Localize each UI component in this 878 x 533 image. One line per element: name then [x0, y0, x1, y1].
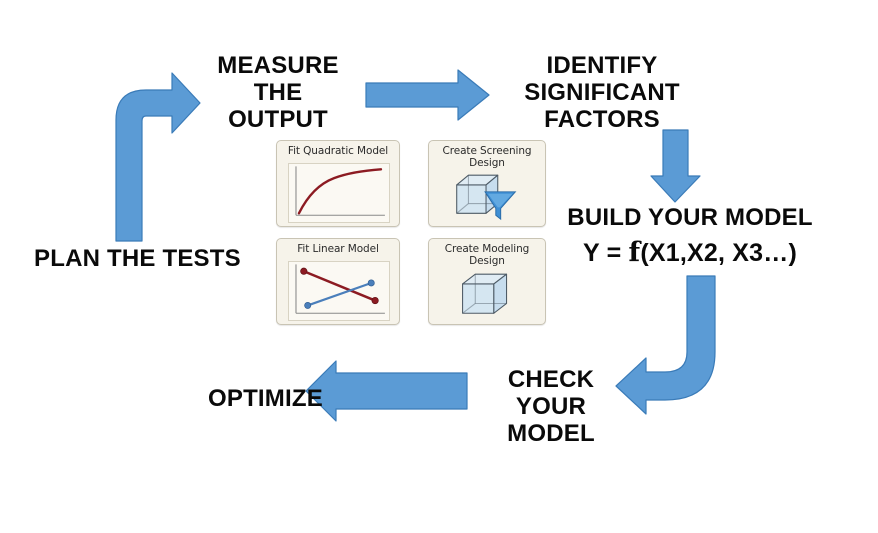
- tile-title: Fit Quadratic Model: [277, 146, 399, 158]
- tile-title: Fit Linear Model: [277, 244, 399, 256]
- step-label-optimize: OPTIMIZE: [208, 385, 323, 412]
- arrow-measure-to-identify: [366, 70, 489, 120]
- step-label-build-your-model: BUILD YOUR MODEL: [562, 204, 818, 231]
- formula-rhs: (X1,X2, X3…): [640, 239, 797, 267]
- arrow-build-to-check: [616, 276, 715, 414]
- formula-lhs: Y =: [583, 239, 629, 267]
- tool-tile-grid: Fit Quadratic Model Fit Linear Model: [272, 138, 556, 332]
- arrow-plan-to-measure: [116, 73, 200, 241]
- step-label-plan-the-tests: PLAN THE TESTS: [34, 245, 241, 272]
- tile-fit-quadratic-model[interactable]: Fit Quadratic Model: [276, 140, 400, 227]
- formula-function-symbol: f: [629, 237, 641, 268]
- arrow-check-to-optimize: [306, 361, 467, 421]
- tile-create-modeling-design[interactable]: Create Modeling Design: [428, 238, 546, 325]
- step-label-check-your-model: CHECK YOUR MODEL: [486, 366, 616, 447]
- doe-cycle-diagram: PLAN THE TESTS MEASURE THE OUTPUT IDENTI…: [0, 0, 878, 533]
- tile-create-screening-design[interactable]: Create Screening Design: [428, 140, 546, 227]
- tile-fit-linear-model[interactable]: Fit Linear Model: [276, 238, 400, 325]
- step-label-measure-the-output: MEASURE THE OUTPUT: [208, 52, 348, 133]
- tile-title: Create Screening Design: [429, 146, 545, 170]
- tile-title: Create Modeling Design: [429, 244, 545, 268]
- arrow-identify-to-build: [651, 130, 700, 202]
- model-formula: Y = f(X1,X2, X3…): [562, 238, 818, 269]
- step-label-identify-significant-factors: IDENTIFY SIGNIFICANT FACTORS: [514, 52, 690, 133]
